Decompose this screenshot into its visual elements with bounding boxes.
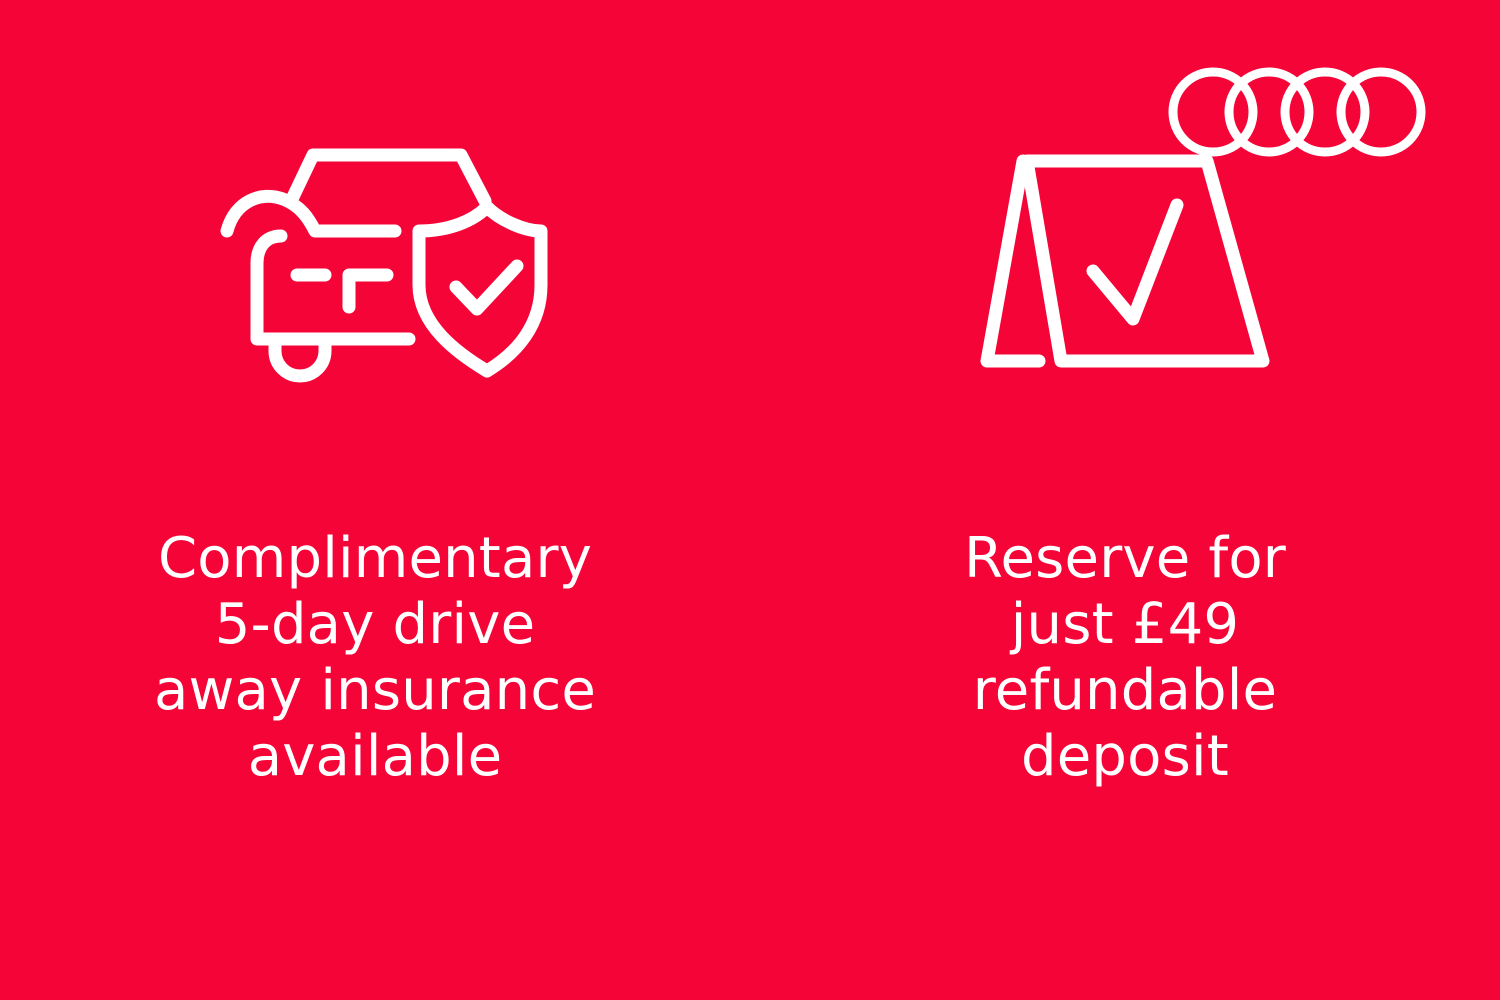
feature-insurance-caption: Complimentary 5-day drive away insurance… [154, 526, 596, 790]
table-tent-checkmark-icon-slot [975, 0, 1275, 520]
feature-deposit-caption: Reserve for just £49 refundable deposit [964, 526, 1286, 790]
feature-columns: Complimentary 5-day drive away insurance… [0, 0, 1500, 1000]
car-with-shield-icon [209, 135, 549, 385]
table-tent-checkmark-icon [975, 135, 1275, 385]
car-with-shield-icon-slot [201, 0, 549, 520]
promo-banner: Complimentary 5-day drive away insurance… [0, 0, 1500, 1000]
feature-deposit: Reserve for just £49 refundable deposit [750, 0, 1500, 1000]
feature-insurance: Complimentary 5-day drive away insurance… [0, 0, 750, 1000]
